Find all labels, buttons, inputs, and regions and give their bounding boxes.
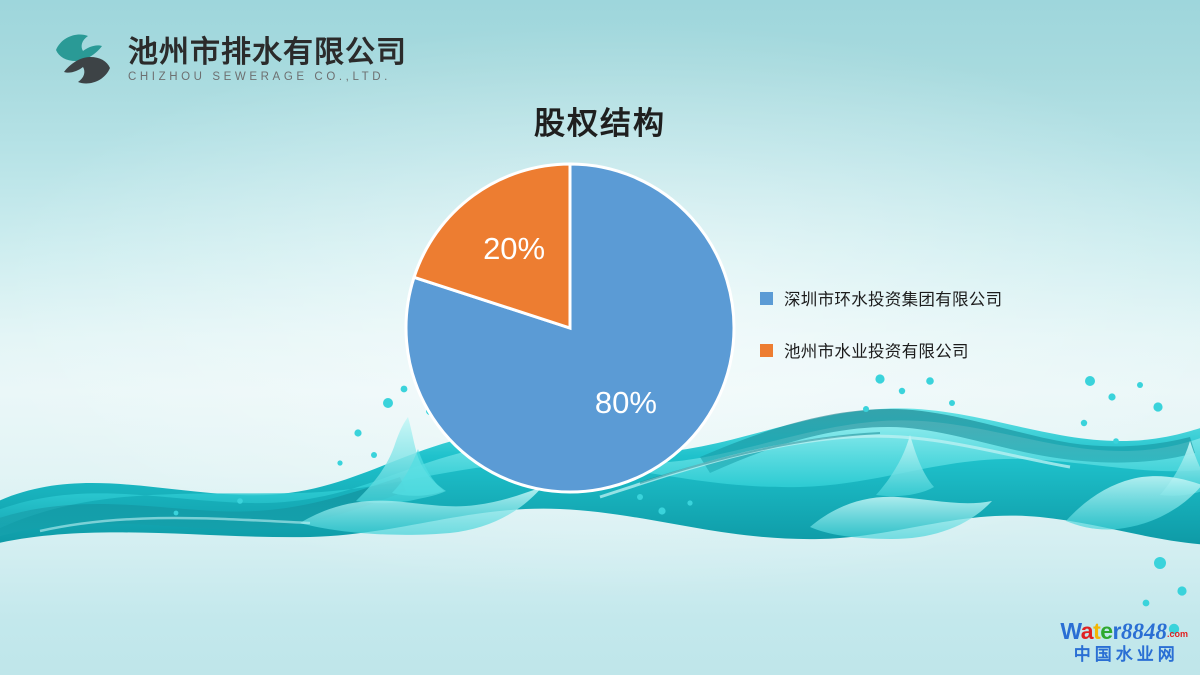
- company-name-block: 池州市排水有限公司 CHIZHOU SEWERAGE CO.,LTD.: [128, 36, 407, 83]
- legend-label-chizhou: 池州市水业投资有限公司: [784, 338, 969, 362]
- sewerage-bird-wave-logo-icon: [52, 30, 114, 88]
- watermark-tld: .com: [1167, 629, 1188, 639]
- chart-legend: 深圳市环水投资集团有限公司 池州市水业投资有限公司: [760, 286, 1002, 362]
- watermark-number: 8848: [1121, 619, 1167, 644]
- watermark-wordmark: Water8848.com: [1060, 620, 1188, 643]
- legend-item-shenzhen[interactable]: 深圳市环水投资集团有限公司: [760, 286, 1002, 310]
- watermark-letter-a: a: [1081, 618, 1093, 644]
- company-name-cn: 池州市排水有限公司: [128, 36, 407, 69]
- chart-title: 股权结构: [0, 98, 1200, 143]
- site-watermark: Water8848.com 中国水业网: [1060, 620, 1188, 663]
- legend-swatch-icon: [760, 292, 773, 305]
- watermark-letter-e: e: [1100, 618, 1112, 644]
- legend-label-shenzhen: 深圳市环水投资集团有限公司: [784, 286, 1002, 310]
- legend-swatch-icon: [760, 344, 773, 357]
- pie-label-chizhou: 20%: [483, 231, 545, 266]
- company-name-en: CHIZHOU SEWERAGE CO.,LTD.: [128, 71, 407, 83]
- slide-canvas: 池州市排水有限公司 CHIZHOU SEWERAGE CO.,LTD. 股权结构…: [0, 0, 1200, 675]
- pie-chart: 20% 80%: [400, 158, 740, 498]
- legend-item-chizhou[interactable]: 池州市水业投资有限公司: [760, 338, 1002, 362]
- watermark-site-cn: 中国水业网: [1060, 646, 1188, 663]
- pie-label-shenzhen: 80%: [595, 385, 657, 420]
- pie-chart-svg: 20% 80%: [400, 158, 740, 498]
- company-logo-block: 池州市排水有限公司 CHIZHOU SEWERAGE CO.,LTD.: [52, 30, 407, 88]
- watermark-letter-w: W: [1060, 618, 1080, 644]
- watermark-letter-r: r: [1113, 618, 1121, 644]
